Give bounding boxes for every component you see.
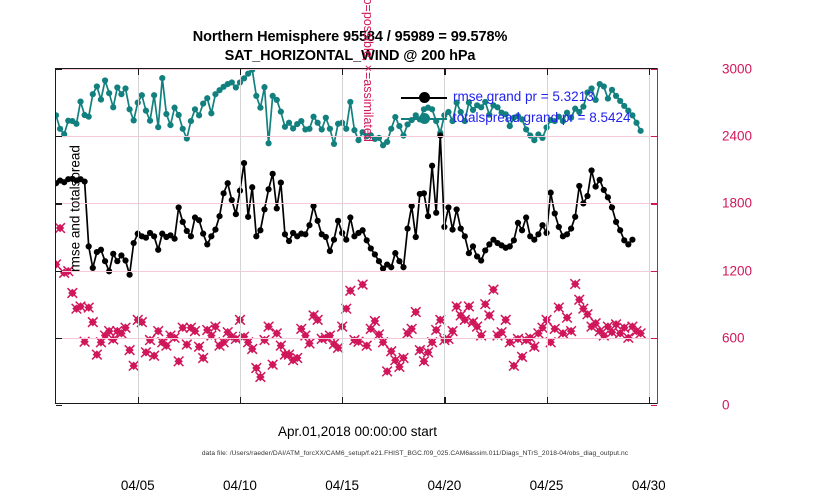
chart-page: Northern Hemisphere 95584 / 95989 = 99.5… <box>0 0 830 470</box>
gridline-horizontal <box>56 136 657 137</box>
x-ticklabel: 04/05 <box>103 478 173 493</box>
legend-marker-totalspread <box>419 113 430 124</box>
gridline-vertical <box>342 69 343 403</box>
x-tick-top <box>547 69 548 75</box>
y-tick-left <box>56 69 62 70</box>
gridline-horizontal <box>56 338 657 339</box>
chart-title-line-1: Northern Hemisphere 95584 / 95989 = 99.5… <box>0 28 700 47</box>
x-tick-bottom <box>444 397 445 403</box>
y-tick-right <box>651 405 657 406</box>
legend-label-rmse: rmse grand pr = 5.3213 <box>453 87 594 107</box>
data-file-footer: data file: /Users/raeder/DAI/ATM_forcXX/… <box>0 450 830 457</box>
y-ticklabel-right: 0 <box>722 398 782 413</box>
x-tick-bottom <box>649 397 650 403</box>
x-tick-bottom <box>240 397 241 403</box>
y-tick-left <box>56 271 62 272</box>
y-tick-right <box>651 69 657 70</box>
x-ticklabel: 04/10 <box>205 478 275 493</box>
y-ticklabel-right: 1800 <box>722 196 782 211</box>
y-tick-right <box>651 203 657 204</box>
y-ticklabel-right: 600 <box>722 330 782 345</box>
gridline-vertical <box>649 69 650 403</box>
x-tick-bottom <box>342 397 343 403</box>
gridline-vertical <box>138 69 139 403</box>
legend-label-totalspread: totalspread grand pr = 8.5424 <box>453 108 631 128</box>
x-ticklabel: 04/15 <box>307 478 377 493</box>
series-rmse <box>56 132 636 277</box>
y-ticklabel-right: 2400 <box>722 129 782 144</box>
gridline-horizontal <box>56 271 657 272</box>
x-tick-top <box>649 69 650 75</box>
gridline-vertical <box>240 69 241 403</box>
x-tick-top <box>444 69 445 75</box>
y-axis-left-label: rmse and totalspread <box>68 44 83 374</box>
x-ticklabel: 04/30 <box>614 478 684 493</box>
x-ticklabel: 04/25 <box>512 478 582 493</box>
y-tick-right <box>651 271 657 272</box>
x-tick-top <box>138 69 139 75</box>
y-tick-right <box>651 136 657 137</box>
series-obs-assimilated <box>56 223 645 382</box>
y-tick-left <box>56 338 62 339</box>
chart-title-block: Northern Hemisphere 95584 / 95989 = 99.5… <box>0 28 700 66</box>
y-ticklabel-right: 3000 <box>722 62 782 77</box>
right-axis-spine <box>657 68 658 405</box>
x-tick-top <box>240 69 241 75</box>
chart-title-line-2: SAT_HORIZONTAL_WIND @ 200 hPa <box>0 47 700 66</box>
x-axis-label: Apr.01,2018 00:00:00 start <box>56 424 659 439</box>
x-tick-top <box>342 69 343 75</box>
y-tick-left <box>56 405 62 406</box>
x-tick-bottom <box>138 397 139 403</box>
y-tick-left <box>56 136 62 137</box>
x-tick-bottom <box>547 397 548 403</box>
gridline-horizontal <box>56 203 657 204</box>
legend-marker-rmse <box>419 92 430 103</box>
gridline-horizontal <box>56 69 657 70</box>
y-axis-right-label: # of obs: o=possible; ×=assimilated <box>361 0 375 244</box>
y-tick-left <box>56 203 62 204</box>
plot-area: 0246810 06001200180024003000 04/0504/100… <box>55 68 658 404</box>
x-ticklabel: 04/20 <box>409 478 479 493</box>
y-tick-right <box>651 338 657 339</box>
y-ticklabel-right: 1200 <box>722 263 782 278</box>
